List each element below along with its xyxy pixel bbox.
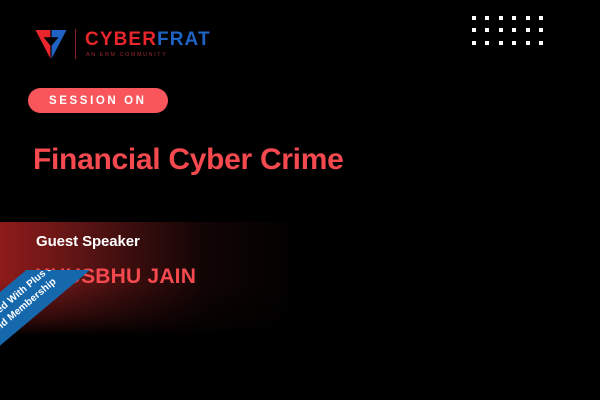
grid-dot	[472, 16, 476, 20]
dot-grid-decoration	[472, 16, 543, 45]
logo-word: CYBERFRAT	[85, 30, 211, 50]
grid-dot	[526, 16, 530, 20]
grid-dot	[512, 41, 516, 45]
grid-dot	[485, 28, 489, 32]
grid-dot	[499, 16, 503, 20]
membership-ribbon-wrap: Included With Plus & Gold Membership	[0, 270, 180, 400]
grid-dot	[499, 41, 503, 45]
grid-dot	[539, 41, 543, 45]
session-poster: CYBERFRAT AN ERM COMMUNITY SESSION ON Fi…	[0, 0, 600, 400]
grid-dot	[526, 41, 530, 45]
grid-dot	[539, 16, 543, 20]
grid-dot	[472, 41, 476, 45]
cyberfrat-v-mark-icon	[34, 27, 68, 61]
logo-tagline: AN ERM COMMUNITY	[86, 51, 211, 59]
logo-word-frat: FRAT	[157, 29, 211, 50]
logo-divider	[75, 29, 76, 59]
grid-dot	[539, 28, 543, 32]
grid-dot	[512, 28, 516, 32]
logo-word-cyber: CYBER	[85, 29, 157, 50]
grid-dot	[499, 28, 503, 32]
session-title: Financial Cyber Crime	[33, 143, 343, 177]
session-on-badge: SESSION ON	[28, 88, 168, 113]
grid-dot	[485, 16, 489, 20]
grid-dot	[485, 41, 489, 45]
grid-dot	[512, 16, 516, 20]
membership-ribbon[interactable]: Included With Plus & Gold Membership	[0, 270, 135, 400]
guest-speaker-label: Guest Speaker	[36, 233, 140, 250]
cyberfrat-logo[interactable]: CYBERFRAT AN ERM COMMUNITY	[34, 26, 211, 62]
logo-wordmark: CYBERFRAT AN ERM COMMUNITY	[85, 30, 211, 59]
grid-dot	[526, 28, 530, 32]
grid-dot	[472, 28, 476, 32]
